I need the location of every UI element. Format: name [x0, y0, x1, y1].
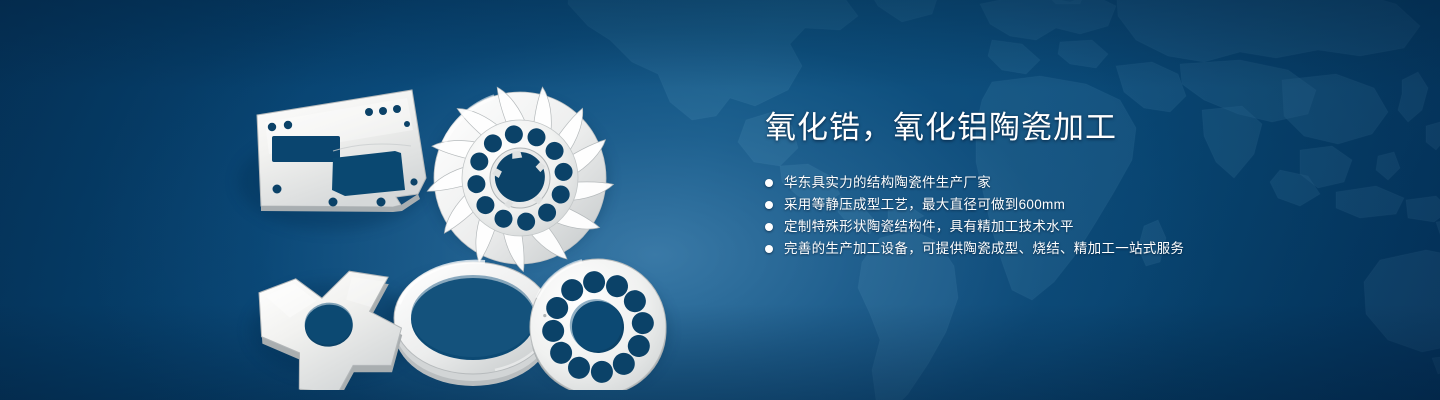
list-item: 采用等静压成型工艺，最大直径可做到600mm: [765, 194, 1385, 216]
list-item-label: 定制特殊形状陶瓷结构件，具有精加工技术水平: [784, 216, 1074, 238]
feature-list: 华东具实力的结构陶瓷件生产厂家 采用等静压成型工艺，最大直径可做到600mm 定…: [765, 172, 1385, 260]
hero-banner: 氧化锆，氧化铝陶瓷加工 华东具实力的结构陶瓷件生产厂家 采用等静压成型工艺，最大…: [0, 0, 1440, 400]
bullet-dot-icon: [765, 201, 773, 209]
ceramic-rings: [394, 262, 552, 386]
ceramic-impeller-disc: [414, 73, 623, 283]
banner-copy: 氧化锆，氧化铝陶瓷加工 华东具实力的结构陶瓷件生产厂家 采用等静压成型工艺，最大…: [765, 108, 1385, 260]
ceramic-machined-plate: [257, 90, 426, 212]
ceramic-products-photo: [215, 30, 735, 390]
bullet-dot-icon: [765, 223, 773, 231]
bullet-dot-icon: [765, 245, 773, 253]
list-item-label: 完善的生产加工设备，可提供陶瓷成型、烧结、精加工一站式服务: [784, 238, 1184, 260]
page-title: 氧化锆，氧化铝陶瓷加工: [765, 108, 1385, 148]
list-item: 完善的生产加工设备，可提供陶瓷成型、烧结、精加工一站式服务: [765, 238, 1385, 260]
ceramic-perforated-disc: [524, 253, 671, 390]
list-item-label: 采用等静压成型工艺，最大直径可做到600mm: [784, 194, 1065, 216]
bullet-dot-icon: [765, 179, 773, 187]
list-item: 定制特殊形状陶瓷结构件，具有精加工技术水平: [765, 216, 1385, 238]
list-item-label: 华东具实力的结构陶瓷件生产厂家: [784, 172, 991, 194]
list-item: 华东具实力的结构陶瓷件生产厂家: [765, 172, 1385, 194]
